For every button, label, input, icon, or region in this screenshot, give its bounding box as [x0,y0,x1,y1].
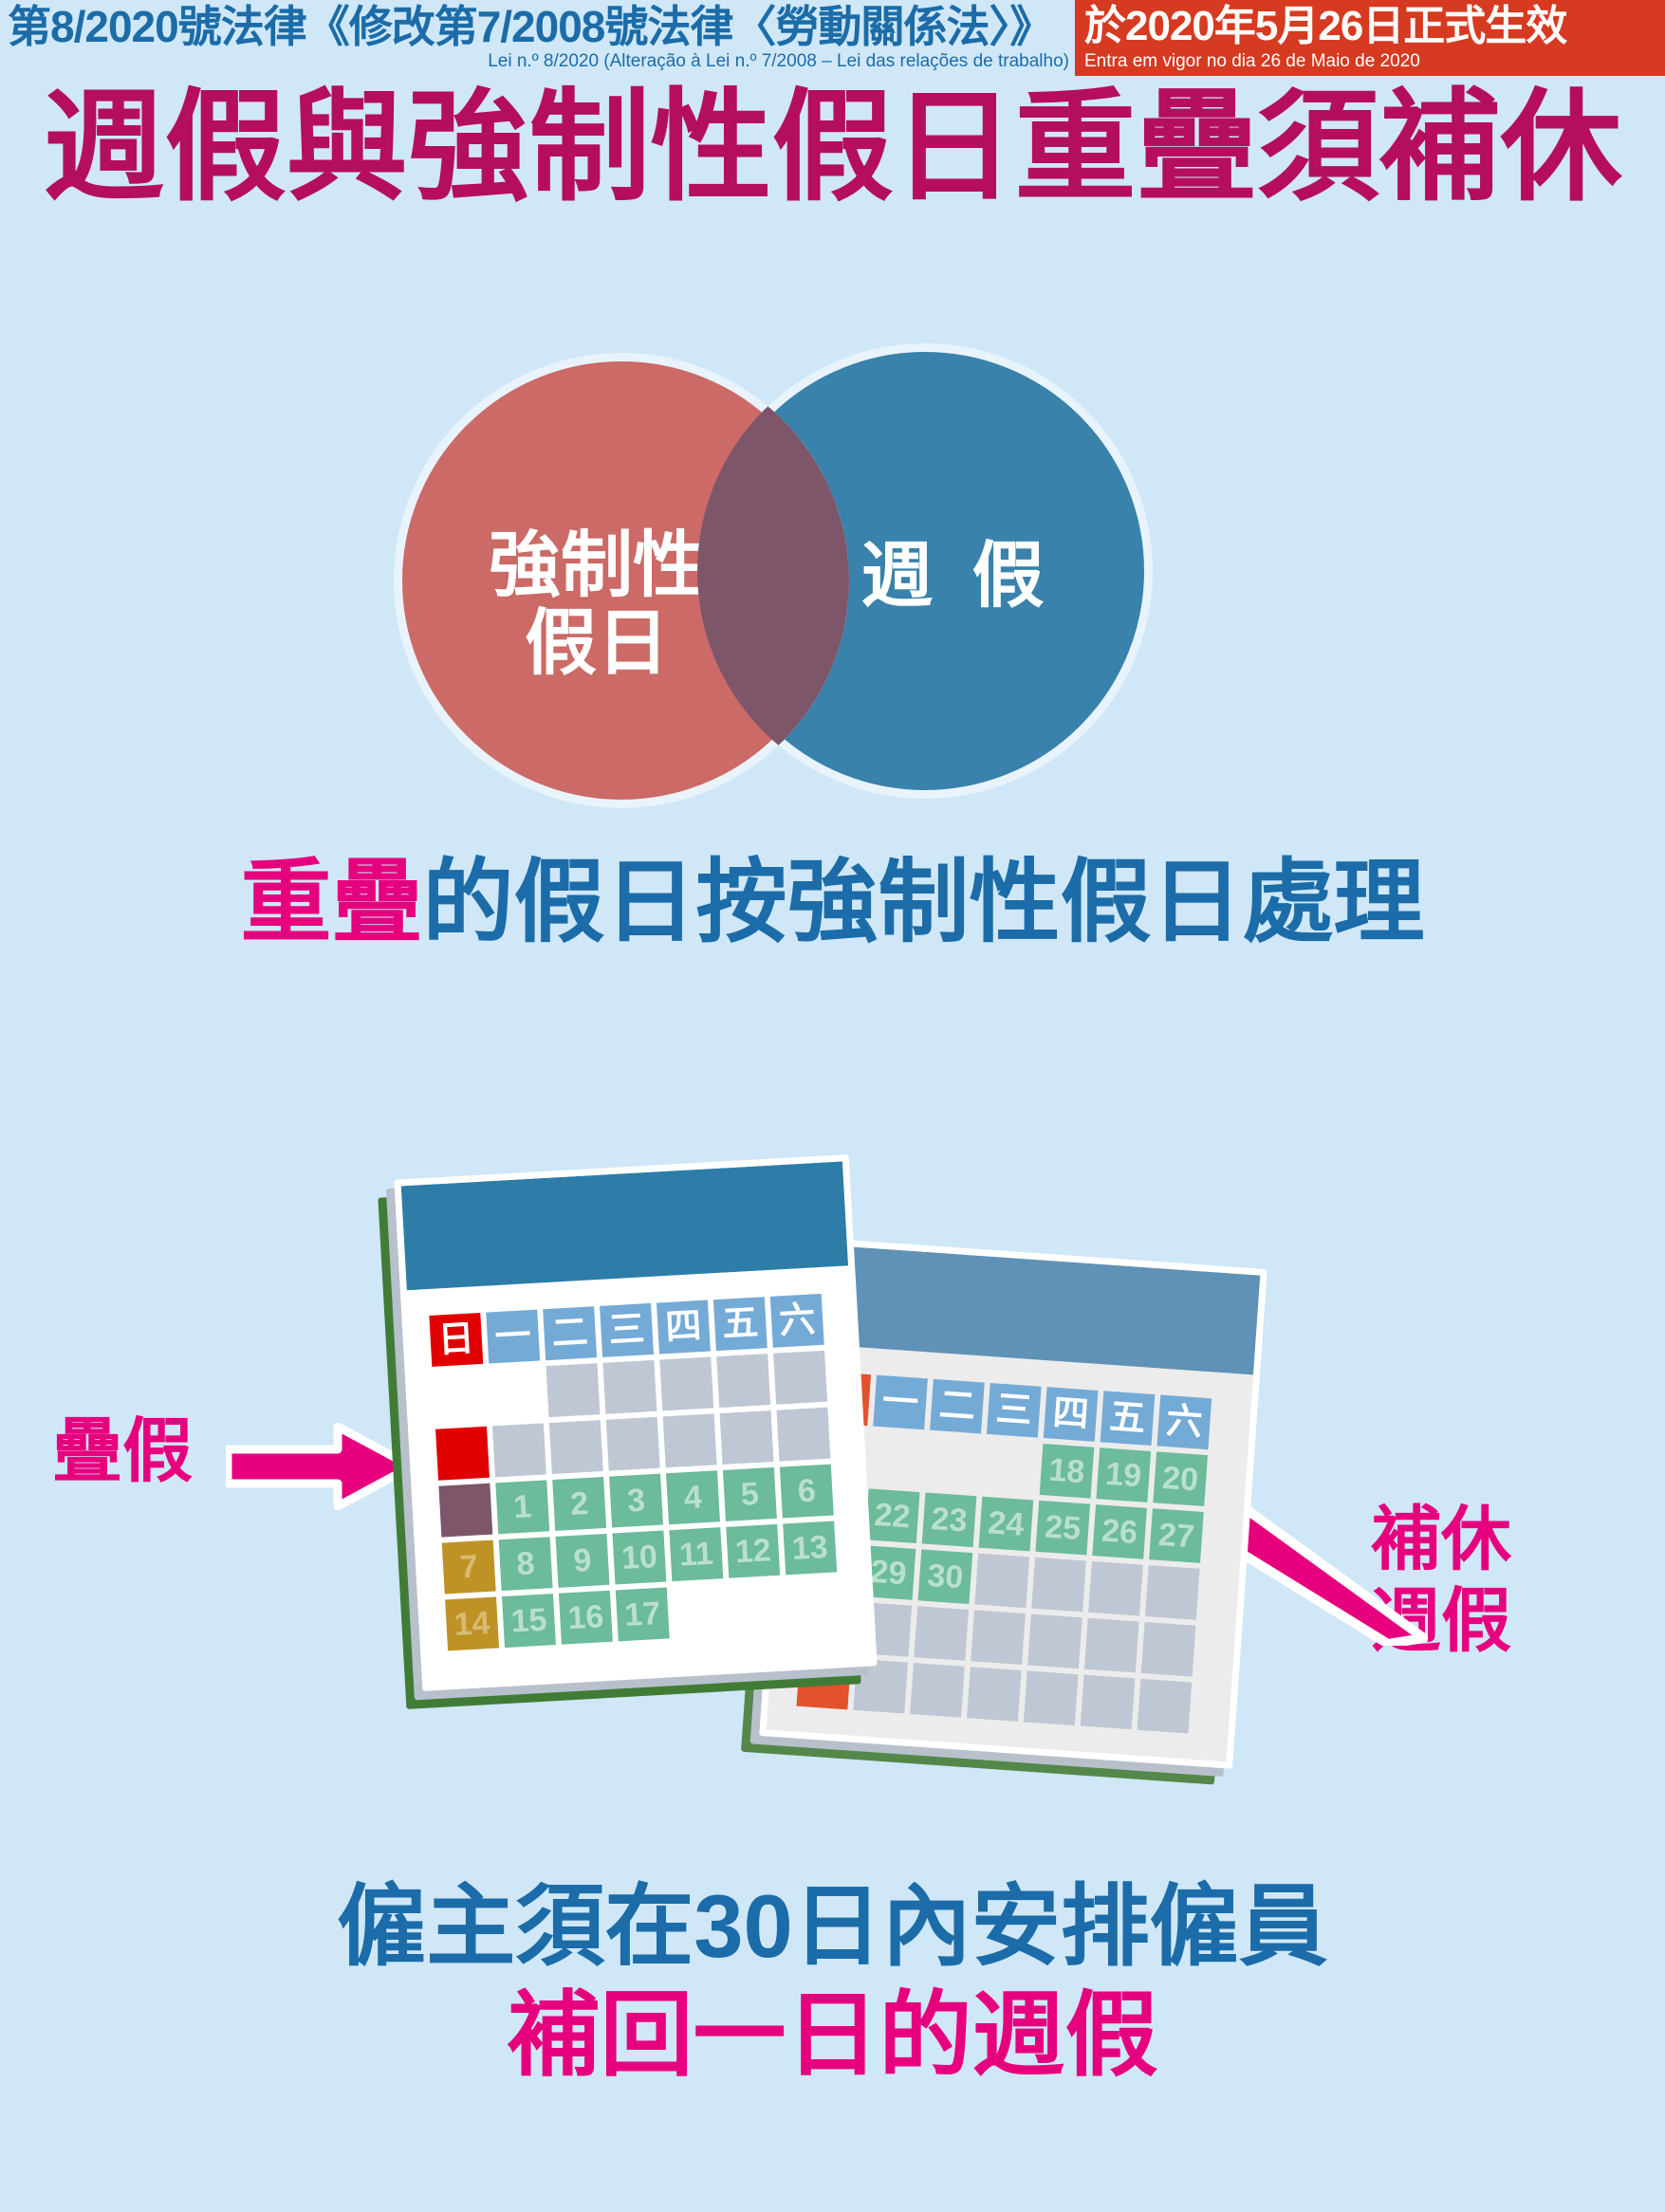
calendar-day-cell [1141,1622,1196,1677]
header-bar: 第8/2020號法律《修改第7/2008號法律〈勞動關係法〉》 Lei n.º … [0,0,1665,76]
venn-diagram: 強制性 假日 週 假 [394,343,1276,827]
calendar-day-cell: 7 [442,1540,496,1594]
page-title: 週假與強制性假日重疊須補休 [0,87,1665,209]
venn-label-weekly-rest: 週 假 [860,538,1053,616]
venn-circle-mandatory-holiday: 強制性 假日 [394,353,849,808]
calendar-day-cell [773,1351,827,1405]
calendar-day-cell [967,1667,1022,1722]
calendar-dow-1: 一 [873,1375,928,1430]
effective-date-banner: 於2020年5月26日正式生效 Entra em vigor no dia 26… [1075,0,1665,76]
calendar-day-cell: 23 [922,1493,977,1548]
footer-line-2: 補回一日的週假 [0,1980,1665,2090]
calendar-front-page: 日一二三四五六 1234567891011121314151617 [394,1154,877,1691]
calendar-day-cell [983,1440,1038,1495]
calendar-day-cell [1081,1675,1136,1730]
calendar-day-cell [549,1420,603,1474]
law-reference-block: 第8/2020號法律《修改第7/2008號法律〈勞動關係法〉》 Lei n.º … [0,0,1075,76]
calendar-day-cell: 11 [669,1527,723,1581]
calendar-day-cell [492,1423,546,1477]
footer-text: 僱主須在30日內安排僱員 補回一日的週假 [0,1873,1665,2090]
calendar-dow-5: 五 [713,1297,768,1351]
calendar-day-cell: 1 [495,1480,549,1534]
calendar-day-cell: 5 [723,1467,777,1521]
calendar-day-cell [716,1354,770,1408]
calendar-day-cell [1145,1565,1200,1620]
calendar-day-cell: 17 [616,1587,670,1641]
calendar-day-cell [606,1417,660,1471]
calendar-day-cell: 26 [1092,1504,1147,1559]
calendar-day-cell [490,1367,544,1421]
calendar-day-cell [435,1427,490,1481]
calendar-day-cell: 4 [666,1470,720,1524]
calendar-day-cell: 14 [445,1596,499,1650]
calendar-dow-1: 一 [486,1310,540,1364]
calendar-day-cell [663,1413,717,1467]
subtitle-highlight: 重疊 [241,852,423,953]
calendar-illustration: 日一二三四五六 18192021222324252627282930 日一二三四… [379,1134,1338,1788]
law-reference-portuguese: Lei n.º 8/2020 (Alteração à Lei n.º 7/20… [8,51,1075,72]
calendar-day-cell [1027,1614,1082,1669]
calendar-day-cell: 9 [556,1534,610,1588]
calendar-day-cell [659,1356,713,1410]
calendar-dow-6: 六 [770,1294,824,1348]
calendar-day-cell [1088,1561,1143,1616]
calendar-day-cell: 16 [559,1591,613,1645]
calendar-day-cell: 2 [552,1477,606,1531]
calendar-day-cell: 6 [780,1465,834,1519]
calendar-day-cell [438,1484,492,1538]
calendar-dow-6: 六 [1157,1395,1212,1450]
calendar-day-cell: 12 [726,1524,780,1578]
calendar-day-cell: 27 [1149,1508,1204,1563]
calendar-dow-0: 日 [429,1313,483,1367]
annotation-overlap-label: 疊假 [52,1413,193,1489]
calendar-day-cell [910,1663,965,1718]
calendar-dow-3: 三 [600,1303,654,1357]
calendar-day-cell [926,1436,981,1491]
arrow-left [226,1423,416,1510]
calendar-day-cell [673,1584,727,1638]
calendar-day-cell [974,1554,1029,1609]
footer-line-1: 僱主須在30日內安排僱員 [0,1873,1665,1980]
calendar-dow-5: 五 [1101,1391,1156,1446]
calendar-day-cell [720,1410,774,1465]
calendar-front: 日一二三四五六 1234567891011121314151617 [394,1154,877,1691]
effective-date-chinese: 於2020年5月26日正式生效 [1084,0,1665,51]
calendar-day-cell: 15 [502,1594,556,1648]
calendar-day-cell: 10 [612,1531,666,1585]
calendar-day-cell [546,1363,601,1417]
calendar-day-cell [433,1370,487,1424]
calendar-dow-3: 三 [987,1383,1042,1438]
calendar-dow-4: 四 [657,1300,711,1355]
calendar-day-cell [869,1431,924,1486]
subtitle-rest: 的假日按強制性假日處理 [423,852,1425,953]
calendar-day-cell: 24 [979,1497,1034,1552]
law-reference-chinese: 第8/2020號法律《修改第7/2008號法律〈勞動關係法〉》 [8,0,1075,51]
venn-label-mandatory-line2: 假日 [489,605,705,683]
arrow-right-pointing-icon [226,1423,416,1510]
effective-date-portuguese: Entra em vigor no dia 26 de Maio de 2020 [1084,51,1665,72]
calendar-day-cell [1031,1558,1086,1613]
calendar-day-cell: 8 [499,1537,553,1591]
calendar-day-cell: 18 [1040,1444,1095,1499]
venn-label-mandatory-line1: 強制性 [489,527,705,605]
calendar-day-cell: 30 [918,1549,973,1604]
calendar-day-cell [786,1577,841,1631]
calendar-day-cell [776,1408,830,1462]
venn-label-mandatory-holiday: 強制性 假日 [489,527,705,683]
calendar-dow-2: 二 [543,1306,597,1360]
calendar-day-cell [971,1610,1026,1665]
calendar-day-cell [730,1581,784,1635]
calendar-day-cell: 25 [1035,1501,1090,1556]
calendar-dow-2: 二 [930,1379,985,1434]
calendar-day-cell [914,1606,969,1661]
calendar-day-cell: 3 [609,1474,663,1528]
calendar-dow-4: 四 [1044,1387,1099,1442]
calendar-day-cell: 13 [783,1521,837,1575]
calendar-day-cell: 20 [1153,1451,1208,1506]
calendar-day-cell [1138,1679,1193,1734]
subtitle: 重疊的假日按強制性假日處理 [0,854,1665,952]
calendar-day-cell [602,1360,657,1414]
calendar-day-cell [1084,1618,1139,1673]
calendar-front-grid: 1234567891011121314151617 [433,1349,869,1650]
calendar-day-cell: 22 [865,1488,920,1543]
calendar-day-cell [1024,1670,1079,1725]
calendar-day-cell: 19 [1096,1447,1151,1502]
